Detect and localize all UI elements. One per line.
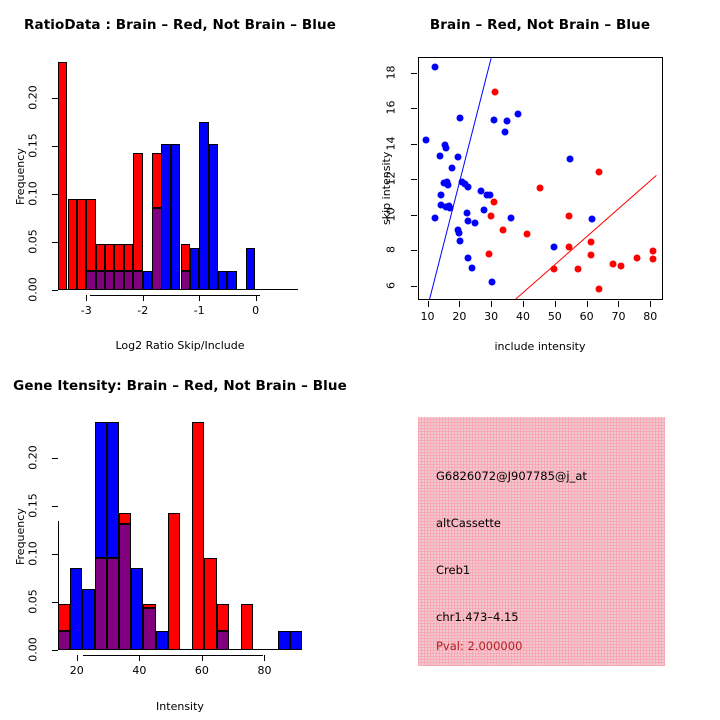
scatter-point-blue	[503, 117, 510, 124]
histogram-bar-blue	[143, 271, 152, 290]
scatter-point-blue	[489, 279, 496, 286]
histogram-bar-blue	[70, 568, 82, 650]
histogram-bar-blue	[95, 422, 107, 558]
scatter-point-red	[610, 260, 617, 267]
scatter-y-tick-label: 14	[385, 128, 398, 158]
scatter-point-red	[595, 285, 602, 292]
histogram-bar-red	[86, 199, 95, 271]
x-tick-mark	[139, 655, 140, 661]
scatter-point-blue	[465, 254, 472, 261]
x-tick-label: 40	[132, 664, 146, 677]
y-tick-label: 0.05	[27, 225, 40, 259]
histogram-bar-blue	[107, 422, 119, 558]
scatter-point-red	[618, 262, 625, 269]
scatter-point-red	[565, 243, 572, 250]
scatter-point-blue	[437, 191, 444, 198]
scatter-point-blue	[501, 129, 508, 136]
histogram-bar-overlap	[95, 558, 107, 650]
histogram-bar-red	[58, 604, 70, 631]
scatter-plot-area	[418, 57, 663, 300]
histogram-bar-overlap	[143, 608, 155, 650]
scatter-y-tick-mark	[411, 144, 417, 145]
scatter-point-blue	[457, 115, 464, 122]
y-tick-label: 0.10	[27, 537, 40, 571]
histogram-bar-blue	[278, 631, 290, 650]
scatter-x-tick-mark	[650, 301, 651, 307]
scatter-point-blue	[508, 214, 515, 221]
scatter-xlabel: include intensity	[360, 340, 720, 353]
scatter-x-tick-label: 70	[611, 310, 625, 323]
scatter-x-tick-label: 80	[643, 310, 657, 323]
scatter-point-blue	[448, 164, 455, 171]
scatter-point-blue	[589, 216, 596, 223]
histogram-bar-red	[152, 153, 161, 208]
scatter-point-blue	[431, 63, 438, 70]
scatter-point-red	[536, 185, 543, 192]
histogram-bar-blue	[199, 122, 208, 290]
histogram-bar-blue	[190, 248, 199, 290]
scatter-point-blue	[471, 219, 478, 226]
y-tick-label: 0.10	[27, 177, 40, 211]
ratio-histogram-xlabel: Log2 Ratio Skip/Include	[0, 339, 360, 352]
x-tick-label: 80	[257, 664, 271, 677]
scatter-y-tick-mark	[411, 286, 417, 287]
scatter-point-blue	[514, 110, 521, 117]
scatter-y-tick-label: 16	[385, 93, 398, 123]
histogram-bar-blue	[161, 144, 170, 290]
x-tick-label: -2	[137, 304, 148, 317]
histogram-bar-red	[119, 513, 131, 525]
histogram-bar-overlap	[152, 208, 161, 290]
histogram-bar-blue	[290, 631, 302, 650]
y-tick-label: 0.00	[27, 633, 40, 667]
gene-histogram-xlabel: Intensity	[0, 700, 360, 713]
brain-fit-line	[513, 175, 657, 300]
histogram-bar-red	[204, 558, 216, 650]
scatter-point-blue	[454, 154, 461, 161]
info-panel-box: G6826072@J907785@j_at altCassette Creb1 …	[418, 417, 665, 666]
scatter-point-red	[486, 250, 493, 257]
info-pval: Pval: 2.000000	[436, 639, 522, 653]
panel-gene-intensity-histogram: Gene Itensity: Brain – Red, Not Brain – …	[0, 360, 360, 720]
info-locus: chr1.473–4.15	[436, 610, 519, 624]
scatter-point-blue	[463, 210, 470, 217]
scatter-y-tick-mark	[411, 179, 417, 180]
scatter-point-blue	[465, 183, 472, 190]
histogram-bar-red	[114, 244, 123, 271]
x-tick-mark	[77, 655, 78, 661]
scatter-x-tick-mark	[555, 301, 556, 307]
histogram-bar-overlap	[107, 558, 119, 650]
y-tick-label: 0.15	[27, 129, 40, 163]
scatter-point-blue	[490, 117, 497, 124]
scatter-point-red	[587, 238, 594, 245]
histogram-bar-overlap	[217, 631, 229, 650]
scatter-title: Brain – Red, Not Brain – Blue	[360, 17, 720, 33]
scatter-point-blue	[423, 137, 430, 144]
scatter-point-red	[487, 212, 494, 219]
info-event-type: altCassette	[436, 516, 501, 530]
panel-ratio-histogram: RatioData : Brain – Red, Not Brain – Blu…	[0, 0, 360, 360]
histogram-bar-overlap	[114, 271, 123, 290]
scatter-point-blue	[567, 156, 574, 163]
scatter-point-blue	[445, 181, 452, 188]
scatter-y-tick-label: 10	[385, 199, 398, 229]
gene-histogram-ylabel: Frequency	[14, 508, 27, 565]
scatter-point-red	[500, 227, 507, 234]
histogram-bar-red	[181, 244, 190, 271]
x-tick-label: -1	[194, 304, 205, 317]
scatter-x-tick-label: 60	[580, 310, 594, 323]
y-tick-mark	[52, 650, 58, 651]
scatter-point-red	[492, 88, 499, 95]
scatter-point-blue	[456, 229, 463, 236]
x-tick-mark	[143, 295, 144, 301]
info-gene-symbol: Creb1	[436, 563, 470, 577]
histogram-bar-red	[96, 244, 105, 271]
y-tick-label: 0.20	[27, 81, 40, 115]
histogram-bar-blue	[171, 144, 180, 290]
histogram-bar-red	[58, 62, 67, 290]
histogram-bar-overlap	[58, 631, 70, 650]
histogram-bar-red	[192, 422, 204, 650]
x-tick-label: 0	[252, 304, 259, 317]
gene-histogram-bars	[58, 420, 302, 650]
histogram-bar-red	[124, 244, 133, 271]
x-tick-mark	[86, 295, 87, 301]
scatter-x-tick-mark	[491, 301, 492, 307]
y-tick-label: 0.00	[27, 273, 40, 307]
histogram-bar-overlap	[133, 271, 142, 290]
histogram-bar-red	[168, 513, 180, 650]
scatter-point-blue	[468, 265, 475, 272]
ratio-histogram-ylabel: Frequency	[14, 148, 27, 205]
scatter-x-tick-mark	[459, 301, 460, 307]
panel-info: G6826072@J907785@j_at altCassette Creb1 …	[360, 360, 720, 720]
ratio-histogram-title: RatioData : Brain – Red, Not Brain – Blu…	[0, 17, 360, 33]
scatter-point-red	[490, 198, 497, 205]
x-tick-mark	[202, 655, 203, 661]
scatter-y-tick-label: 8	[385, 235, 398, 265]
scatter-y-tick-mark	[411, 108, 417, 109]
scatter-point-blue	[551, 243, 558, 250]
histogram-bar-overlap	[96, 271, 105, 290]
x-tick-mark	[264, 655, 265, 661]
histogram-bar-red	[105, 244, 114, 271]
gene-x-axis	[83, 655, 263, 656]
scatter-point-blue	[443, 145, 450, 152]
scatter-x-tick-label: 20	[452, 310, 466, 323]
y-tick-label: 0.15	[27, 489, 40, 523]
scatter-point-red	[649, 256, 656, 263]
scatter-point-blue	[431, 214, 438, 221]
scatter-point-blue	[457, 237, 464, 244]
histogram-bar-blue	[218, 271, 227, 290]
scatter-point-red	[633, 254, 640, 261]
x-tick-mark	[256, 295, 257, 301]
histogram-bar-red	[217, 604, 229, 631]
scatter-point-blue	[481, 206, 488, 213]
histogram-bar-overlap	[124, 271, 133, 290]
scatter-x-tick-label: 10	[421, 310, 435, 323]
scatter-y-tick-label: 6	[385, 270, 398, 300]
histogram-bar-blue	[246, 248, 255, 290]
histogram-bar-red	[68, 199, 77, 290]
histogram-bar-overlap	[119, 524, 131, 650]
scatter-point-red	[649, 248, 656, 255]
histogram-bar-blue	[82, 589, 94, 650]
y-tick-mark	[52, 290, 58, 291]
scatter-x-tick-mark	[587, 301, 588, 307]
scatter-x-tick-label: 30	[484, 310, 498, 323]
scatter-point-blue	[447, 204, 454, 211]
histogram-bar-blue	[156, 631, 168, 650]
scatter-x-tick-mark	[618, 301, 619, 307]
scatter-x-tick-label: 50	[548, 310, 562, 323]
y-tick-label: 0.05	[27, 585, 40, 619]
scatter-y-tick-mark	[411, 215, 417, 216]
scatter-y-tick-mark	[411, 73, 417, 74]
r-multipanel-figure: RatioData : Brain – Red, Not Brain – Blu…	[0, 0, 720, 720]
y-tick-label: 0.20	[27, 441, 40, 475]
histogram-bar-blue	[209, 144, 218, 290]
scatter-point-red	[524, 230, 531, 237]
scatter-point-red	[587, 251, 594, 258]
info-probe-id: G6826072@J907785@j_at	[436, 469, 587, 483]
x-tick-label: 60	[195, 664, 209, 677]
histogram-bar-blue	[131, 568, 143, 650]
histogram-bar-red	[133, 153, 142, 271]
histogram-bar-overlap	[86, 271, 95, 290]
scatter-point-red	[565, 212, 572, 219]
scatter-point-red	[595, 169, 602, 176]
x-tick-label: -3	[81, 304, 92, 317]
ratio-histogram-bars	[58, 60, 298, 290]
x-tick-label: 20	[70, 664, 84, 677]
scatter-point-blue	[436, 152, 443, 159]
x-tick-mark	[199, 295, 200, 301]
histogram-bar-overlap	[105, 271, 114, 290]
scatter-x-tick-mark	[428, 301, 429, 307]
scatter-x-tick-label: 40	[516, 310, 530, 323]
scatter-y-tick-label: 12	[385, 164, 398, 194]
histogram-bar-overlap	[181, 271, 190, 290]
scatter-y-tick-label: 18	[385, 57, 398, 87]
scatter-point-red	[575, 266, 582, 273]
ratio-x-axis	[90, 295, 260, 296]
scatter-point-red	[551, 266, 558, 273]
scatter-y-tick-mark	[411, 250, 417, 251]
histogram-bar-red	[77, 199, 86, 290]
panel-intensity-scatter: Brain – Red, Not Brain – Blue skip inten…	[360, 0, 720, 360]
histogram-bar-blue	[227, 271, 236, 290]
histogram-bar-red	[241, 604, 253, 650]
gene-histogram-title: Gene Itensity: Brain – Red, Not Brain – …	[0, 378, 360, 394]
scatter-x-tick-mark	[523, 301, 524, 307]
